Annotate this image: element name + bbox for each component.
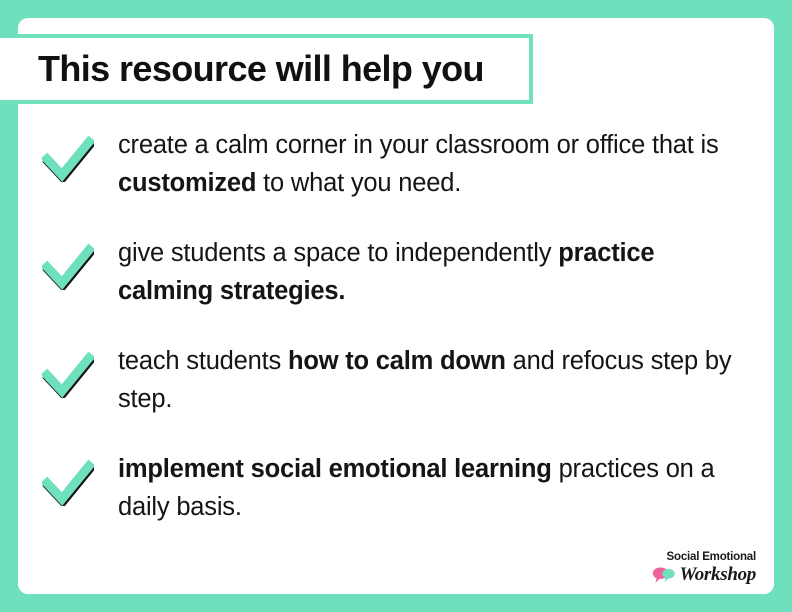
speech-bubble-pair-icon [652, 566, 678, 584]
checkmark-slot [18, 448, 118, 506]
page-title: This resource will help you [0, 48, 484, 90]
list-item: create a calm corner in your classroom o… [18, 124, 774, 210]
checkmark-icon [42, 350, 94, 398]
text-segment: create a calm corner in your classroom o… [118, 131, 719, 159]
benefits-list: create a calm corner in your classroom o… [18, 124, 774, 556]
text-segment: to what you need. [256, 169, 461, 197]
checkmark-icon [42, 458, 94, 506]
list-item: implement social emotional learning prac… [18, 448, 774, 534]
logo-wordmark-top: Social Emotional [636, 551, 756, 564]
list-item-text: give students a space to independently p… [118, 232, 774, 310]
list-item-text: implement social emotional learning prac… [118, 448, 774, 526]
text-segment: give students a space to independently [118, 239, 558, 267]
slide-canvas: This resource will help you create a cal… [0, 0, 792, 612]
text-segment-bold: implement social emotional learning [118, 455, 552, 483]
logo-wordmark-bottom: Workshop [680, 565, 756, 584]
list-item: teach students how to calm down and refo… [18, 340, 774, 426]
checkmark-slot [18, 124, 118, 182]
text-segment-bold: how to calm down [288, 347, 506, 375]
checkmark-icon [42, 134, 94, 182]
text-segment-bold: customized [118, 169, 256, 197]
checkmark-icon [42, 242, 94, 290]
list-item: give students a space to independently p… [18, 232, 774, 318]
list-item-text: create a calm corner in your classroom o… [118, 124, 774, 202]
title-banner: This resource will help you [0, 34, 533, 104]
logo-bottom-row: Workshop [636, 565, 756, 584]
list-item-text: teach students how to calm down and refo… [118, 340, 774, 418]
checkmark-slot [18, 340, 118, 398]
brand-logo: Social Emotional Workshop [636, 551, 756, 584]
checkmark-slot [18, 232, 118, 290]
text-segment: teach students [118, 347, 288, 375]
